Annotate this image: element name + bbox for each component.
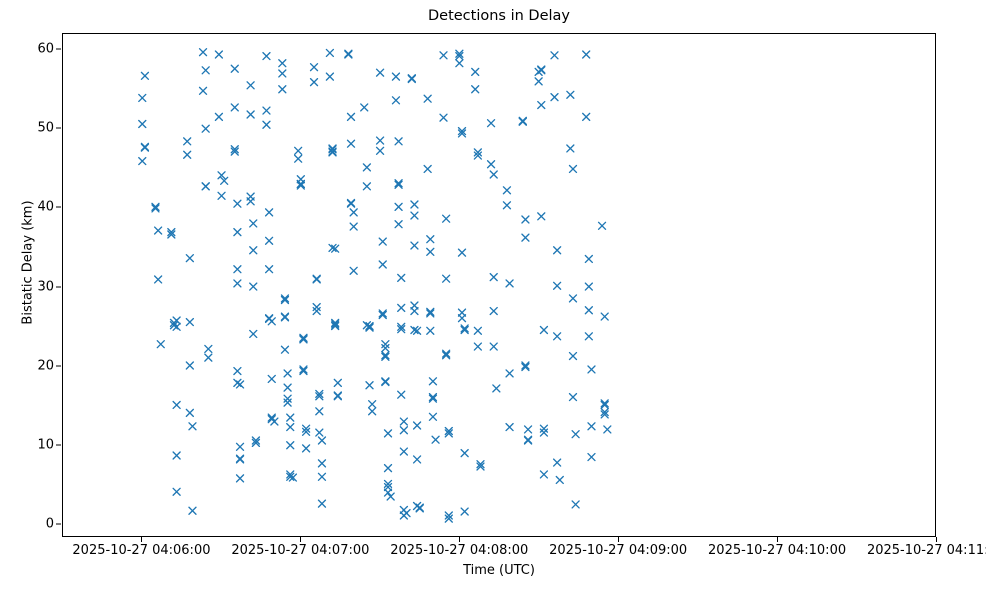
scatter-point (318, 437, 325, 444)
x-axis-tick-mark (777, 537, 778, 542)
scatter-point (554, 282, 561, 289)
scatter-point (250, 330, 257, 337)
scatter-point (572, 501, 579, 508)
scatter-point (215, 51, 222, 58)
scatter-point (493, 385, 500, 392)
scatter-point (429, 413, 436, 420)
x-axis-label: Time (UTC) (62, 563, 936, 578)
x-axis-tick-mark (141, 537, 142, 542)
scatter-point (173, 452, 180, 459)
scatter-point (424, 165, 431, 172)
scatter-point (268, 375, 275, 382)
scatter-point (427, 327, 434, 334)
scatter-point (377, 69, 384, 76)
scatter-point (427, 248, 434, 255)
scatter-point (400, 427, 407, 434)
scatter-point (363, 183, 370, 190)
scatter-point (385, 489, 392, 496)
scatter-point (490, 274, 497, 281)
y-axis-tick-mark (56, 286, 61, 287)
scatter-point (263, 53, 270, 60)
scatter-point (377, 137, 384, 144)
scatter-point (424, 95, 431, 102)
scatter-point (205, 354, 212, 361)
x-axis-tick-label: 2025-10-27 04:11:00 (867, 543, 986, 558)
scatter-point (567, 91, 574, 98)
scatter-point (472, 86, 479, 93)
scatter-point (311, 79, 318, 86)
scatter-point (173, 401, 180, 408)
scatter-point (459, 249, 466, 256)
scatter-point (472, 68, 479, 75)
scatter-point (139, 120, 146, 127)
scatter-point (506, 370, 513, 377)
scatter-point (141, 72, 148, 79)
scatter-point (247, 82, 254, 89)
scatter-point (215, 113, 222, 120)
y-axis-tick-mark (56, 207, 61, 208)
scatter-point (266, 266, 273, 273)
scatter-point (281, 314, 288, 321)
scatter-point (474, 343, 481, 350)
scatter-point (326, 49, 333, 56)
scatter-point (382, 379, 389, 386)
scatter-point (395, 203, 402, 210)
scatter-point (247, 111, 254, 118)
scatter-point (279, 86, 286, 93)
scatter-point (506, 280, 513, 287)
scatter-point (403, 510, 410, 517)
scatter-point (295, 147, 302, 154)
x-axis-tick-label: 2025-10-27 04:10:00 (708, 543, 846, 558)
x-axis-tick-mark (936, 537, 937, 542)
scatter-point (231, 104, 238, 111)
scatter-point (234, 368, 241, 375)
scatter-point (318, 460, 325, 467)
scatter-point (551, 52, 558, 59)
scatter-point (392, 97, 399, 104)
scatter-point (202, 183, 209, 190)
scatter-point (173, 323, 180, 330)
scatter-point (284, 399, 291, 406)
scatter-point (588, 423, 595, 430)
scatter-point (488, 120, 495, 127)
y-axis-tick-mark (56, 48, 61, 49)
scatter-point (313, 308, 320, 315)
scatter-point (202, 67, 209, 74)
scatter-point (231, 65, 238, 72)
scatter-point (218, 192, 225, 199)
scatter-point (350, 267, 357, 274)
scatter-point (297, 176, 304, 183)
scatter-point (538, 102, 545, 109)
page-title: Detections in Delay (62, 8, 936, 24)
scatter-point (525, 437, 532, 444)
scatter-point (237, 475, 244, 482)
scatter-point (263, 107, 270, 114)
scatter-point (366, 382, 373, 389)
scatter-point (350, 223, 357, 230)
scatter-point (551, 94, 558, 101)
scatter-point (205, 345, 212, 352)
scatter-point (414, 422, 421, 429)
scatter-point (411, 308, 418, 315)
scatter-point (556, 476, 563, 483)
scatter-point (186, 362, 193, 369)
scatter-point (334, 379, 341, 386)
scatter-point (443, 215, 450, 222)
scatter-point (443, 275, 450, 282)
scatter-point (139, 158, 146, 165)
scatter-point (279, 70, 286, 77)
scatter-point (189, 423, 196, 430)
scatter-point (490, 171, 497, 178)
scatter-point (313, 276, 320, 283)
scatter-point (398, 274, 405, 281)
scatter-point (601, 313, 608, 320)
scatter-point (350, 209, 357, 216)
scatter-point (599, 222, 606, 229)
scatter-point (316, 429, 323, 436)
scatter-point (369, 408, 376, 415)
scatter-point (604, 426, 611, 433)
y-axis-label: Bistatic Delay (km) (21, 173, 36, 353)
scatter-point (268, 318, 275, 325)
x-axis-tick-mark (300, 537, 301, 542)
scatter-point (385, 430, 392, 437)
figure-canvas: Detections in Delay 0102030405060 2025-1… (0, 0, 986, 590)
scatter-point (318, 473, 325, 480)
y-axis-tick-mark (56, 365, 61, 366)
scatter-point (237, 381, 244, 388)
scatter-point (318, 500, 325, 507)
scatter-point (234, 229, 241, 236)
scatter-point (461, 450, 468, 457)
scatter-point (271, 418, 278, 425)
scatter-point (398, 391, 405, 398)
scatter-point (234, 200, 241, 207)
scatter-point (440, 52, 447, 59)
scatter-point (287, 442, 294, 449)
scatter-point (334, 393, 341, 400)
scatter-point (237, 443, 244, 450)
scatter-point (395, 221, 402, 228)
scatter-point (139, 94, 146, 101)
scatter-point (411, 201, 418, 208)
plot-area (62, 33, 936, 537)
scatter-point (184, 138, 191, 145)
scatter-point (461, 508, 468, 515)
scatter-point (459, 315, 466, 322)
scatter-point (519, 118, 526, 125)
scatter-point (234, 266, 241, 273)
scatter-point (234, 280, 241, 287)
scatter-point (369, 401, 376, 408)
scatter-point (588, 454, 595, 461)
scatter-point (503, 187, 510, 194)
scatter-point (567, 145, 574, 152)
scatter-point (395, 138, 402, 145)
x-axis-tick-label: 2025-10-27 04:09:00 (549, 543, 687, 558)
scatter-point (385, 465, 392, 472)
scatter-point (186, 255, 193, 262)
scatter-point (366, 323, 373, 330)
scatter-point (250, 220, 257, 227)
scatter-point (525, 426, 532, 433)
scatter-point (540, 471, 547, 478)
scatter-point (522, 234, 529, 241)
scatter-point (474, 327, 481, 334)
y-axis-tick-mark (56, 445, 61, 446)
scatter-point (295, 155, 302, 162)
scatter-point (408, 76, 415, 83)
scatter-point (348, 200, 355, 207)
scatter-point (416, 505, 423, 512)
scatter-point (279, 60, 286, 67)
scatter-point (200, 87, 207, 94)
y-axis-tick-mark (56, 128, 61, 129)
scatter-point (379, 261, 386, 268)
scatter-point (250, 283, 257, 290)
scatter-point (345, 51, 352, 58)
scatter-point (540, 327, 547, 334)
scatter-point (284, 384, 291, 391)
scatter-point (490, 308, 497, 315)
scatter-point (440, 114, 447, 121)
scatter-point (186, 319, 193, 326)
scatter-point (554, 459, 561, 466)
scatter-point (540, 429, 547, 436)
scatter-point (348, 113, 355, 120)
scatter-point (432, 436, 439, 443)
scatter-point (184, 151, 191, 158)
x-axis-tick-label: 2025-10-27 04:07:00 (231, 543, 369, 558)
scatter-points-layer (63, 34, 935, 536)
scatter-point (186, 409, 193, 416)
scatter-point (414, 456, 421, 463)
scatter-point (237, 456, 244, 463)
scatter-point (281, 346, 288, 353)
scatter-point (535, 78, 542, 85)
scatter-point (266, 237, 273, 244)
scatter-point (392, 73, 399, 80)
scatter-point (316, 408, 323, 415)
scatter-point (490, 343, 497, 350)
scatter-point (488, 161, 495, 168)
scatter-point (569, 394, 576, 401)
scatter-point (522, 216, 529, 223)
scatter-point (400, 448, 407, 455)
scatter-point (379, 238, 386, 245)
scatter-point (398, 304, 405, 311)
scatter-point (189, 507, 196, 514)
scatter-point (250, 247, 257, 254)
scatter-point (377, 147, 384, 154)
scatter-point (141, 144, 148, 151)
scatter-point (572, 431, 579, 438)
scatter-point (427, 236, 434, 243)
x-axis-tick-labels: 2025-10-27 04:06:002025-10-27 04:07:0020… (0, 543, 986, 565)
x-axis-tick-mark (618, 537, 619, 542)
scatter-point (583, 113, 590, 120)
scatter-point (538, 213, 545, 220)
scatter-point (585, 307, 592, 314)
scatter-point (429, 378, 436, 385)
scatter-point (287, 414, 294, 421)
scatter-point (157, 341, 164, 348)
scatter-point (411, 212, 418, 219)
scatter-point (303, 445, 310, 452)
scatter-point (583, 51, 590, 58)
scatter-point (361, 104, 368, 111)
scatter-point (200, 49, 207, 56)
scatter-point (503, 202, 510, 209)
x-axis-tick-label: 2025-10-27 04:08:00 (390, 543, 528, 558)
scatter-point (202, 125, 209, 132)
scatter-point (284, 370, 291, 377)
scatter-point (266, 209, 273, 216)
scatter-point (538, 67, 545, 74)
scatter-point (155, 227, 162, 234)
scatter-point (456, 60, 463, 67)
scatter-point (311, 64, 318, 71)
scatter-point (287, 424, 294, 431)
scatter-point (569, 295, 576, 302)
scatter-point (569, 165, 576, 172)
scatter-point (247, 198, 254, 205)
scatter-point (387, 493, 394, 500)
scatter-point (585, 255, 592, 262)
scatter-point (411, 242, 418, 249)
scatter-point (326, 73, 333, 80)
scatter-point (569, 353, 576, 360)
scatter-point (173, 488, 180, 495)
scatter-point (363, 164, 370, 171)
x-axis-tick-mark (459, 537, 460, 542)
x-axis-tick-label: 2025-10-27 04:06:00 (72, 543, 210, 558)
scatter-point (585, 333, 592, 340)
scatter-point (585, 283, 592, 290)
y-axis-tick-mark (56, 524, 61, 525)
scatter-point (348, 140, 355, 147)
scatter-point (400, 418, 407, 425)
scatter-point (554, 333, 561, 340)
scatter-point (155, 276, 162, 283)
scatter-point (506, 424, 513, 431)
scatter-point (263, 121, 270, 128)
scatter-point (382, 345, 389, 352)
scatter-point (554, 247, 561, 254)
scatter-point (588, 366, 595, 373)
